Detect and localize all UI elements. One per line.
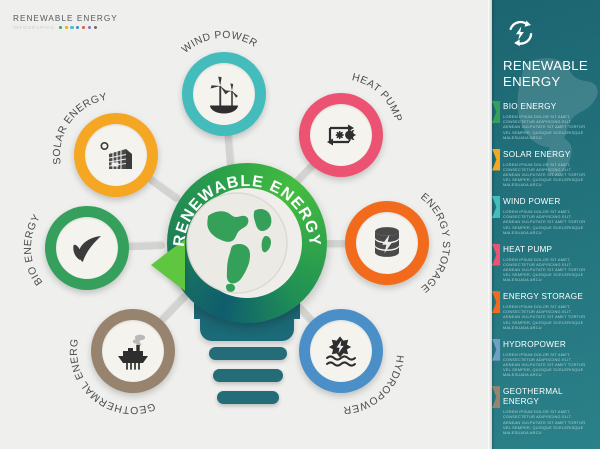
node-bio-energy[interactable]: BIO ENERGY xyxy=(45,206,129,290)
sidebar-item-heat-pump[interactable]: HEAT PUMPLOREM IPSUM DOLOR SIT AMET, CON… xyxy=(503,245,592,283)
bulb-base-bar-1 xyxy=(209,347,287,360)
node-icon-well-bio-energy xyxy=(56,217,118,279)
sidebar-item-title: GEOTHERMAL ENERGY xyxy=(503,387,592,407)
node-energy-storage[interactable]: ENERGY STORAGE xyxy=(345,201,429,285)
node-icon-well-wind-power xyxy=(193,63,255,125)
sidebar-accent-ribbon xyxy=(492,386,500,408)
node-icon-well-geothermal-energy xyxy=(102,320,164,382)
sidebar-accent-ribbon xyxy=(492,149,500,171)
sidebar-item-wind-power[interactable]: WIND POWERLOREM IPSUM DOLOR SIT AMET, CO… xyxy=(503,197,592,235)
node-wind-power[interactable]: WIND POWER xyxy=(182,52,266,136)
sidebar-accent-ribbon xyxy=(492,339,500,361)
brand: RENEWABLE ENERGY INFOGRAPHIC xyxy=(13,13,193,30)
sidebar-item-body: LOREM IPSUM DOLOR SIT AMET, CONSECTETUR … xyxy=(503,304,589,330)
sidebar-item-geothermal-energy[interactable]: GEOTHERMAL ENERGYLOREM IPSUM DOLOR SIT A… xyxy=(503,387,592,435)
infographic-root: RENEWABLE ENERGY INFOGRAPHIC SOLAR ENERG… xyxy=(0,0,600,449)
sidebar-item-title: ENERGY STORAGE xyxy=(503,292,592,302)
solar-panel-house-icon xyxy=(96,135,136,175)
brand-dot-6 xyxy=(88,26,91,29)
sidebar-item-body: LOREM IPSUM DOLOR SIT AMET, CONSECTETUR … xyxy=(503,209,589,235)
brand-dots xyxy=(59,26,97,29)
center-lightbulb: RENEWABLE ENERGY xyxy=(157,163,337,428)
center-label: RENEWABLE ENERGY xyxy=(167,163,327,323)
brand-subtitle-row: INFOGRAPHIC xyxy=(13,25,193,30)
brand-title: RENEWABLE ENERGY xyxy=(13,13,193,24)
sidebar: RENEWABLE ENERGY BIO ENERGYLOREM IPSUM D… xyxy=(492,0,600,449)
brand-dot-7 xyxy=(94,26,97,29)
sidebar-accent-ribbon xyxy=(492,244,500,266)
sidebar-title-line2: ENERGY xyxy=(503,74,591,90)
wind-turbine-icon xyxy=(204,74,244,114)
sidebar-item-solar-energy[interactable]: SOLAR ENERGYLOREM IPSUM DOLOR SIT AMET, … xyxy=(503,150,592,188)
sidebar-header: RENEWABLE ENERGY xyxy=(492,0,600,89)
sidebar-list: BIO ENERGYLOREM IPSUM DOLOR SIT AMET, CO… xyxy=(492,102,600,435)
sidebar-accent-ribbon xyxy=(492,291,500,313)
sidebar-item-body: LOREM IPSUM DOLOR SIT AMET, CONSECTETUR … xyxy=(503,114,589,140)
node-solar-energy[interactable]: SOLAR ENERGY xyxy=(74,113,158,197)
sidebar-item-energy-storage[interactable]: ENERGY STORAGELOREM IPSUM DOLOR SIT AMET… xyxy=(503,292,592,330)
brand-dot-5 xyxy=(82,26,85,29)
sidebar-item-title: HEAT PUMP xyxy=(503,245,592,255)
brand-dot-2 xyxy=(65,26,68,29)
node-icon-well-energy-storage xyxy=(356,212,418,274)
node-icon-well-solar-energy xyxy=(85,124,147,186)
node-icon-well-heat-pump xyxy=(310,104,372,166)
sidebar-item-hydropower[interactable]: HYDROPOWERLOREM IPSUM DOLOR SIT AMET, CO… xyxy=(503,340,592,378)
sidebar-item-title: WIND POWER xyxy=(503,197,592,207)
sidebar-title-line1: RENEWABLE xyxy=(503,58,591,74)
sidebar-item-body: LOREM IPSUM DOLOR SIT AMET, CONSECTETUR … xyxy=(503,409,589,435)
sidebar-accent-ribbon xyxy=(492,196,500,218)
sidebar-item-body: LOREM IPSUM DOLOR SIT AMET, CONSECTETUR … xyxy=(503,352,589,378)
leaf-icon xyxy=(67,228,107,268)
sidebar-item-title: BIO ENERGY xyxy=(503,102,592,112)
infographic-canvas: RENEWABLE ENERGY INFOGRAPHIC SOLAR ENERG… xyxy=(0,0,492,449)
sidebar-item-body: LOREM IPSUM DOLOR SIT AMET, CONSECTETUR … xyxy=(503,162,589,188)
brand-dot-1 xyxy=(59,26,62,29)
brand-dot-4 xyxy=(76,26,79,29)
brand-dot-3 xyxy=(70,26,73,29)
bulb-base-bar-2 xyxy=(213,369,283,382)
sidebar-item-bio-energy[interactable]: BIO ENERGYLOREM IPSUM DOLOR SIT AMET, CO… xyxy=(503,102,592,140)
sidebar-item-title: SOLAR ENERGY xyxy=(503,150,592,160)
bulb-base-bar-3 xyxy=(217,391,279,404)
brand-subtitle: INFOGRAPHIC xyxy=(13,25,55,30)
power-plant-icon xyxy=(113,331,153,371)
battery-stack-icon xyxy=(367,223,407,263)
sidebar-item-title: HYDROPOWER xyxy=(503,340,592,350)
sidebar-item-body: LOREM IPSUM DOLOR SIT AMET, CONSECTETUR … xyxy=(503,257,589,283)
recycle-lightning-icon xyxy=(505,18,535,48)
svg-text:RENEWABLE ENERGY: RENEWABLE ENERGY xyxy=(171,173,323,248)
sidebar-accent-ribbon xyxy=(492,101,500,123)
heat-exchange-icon xyxy=(321,115,361,155)
